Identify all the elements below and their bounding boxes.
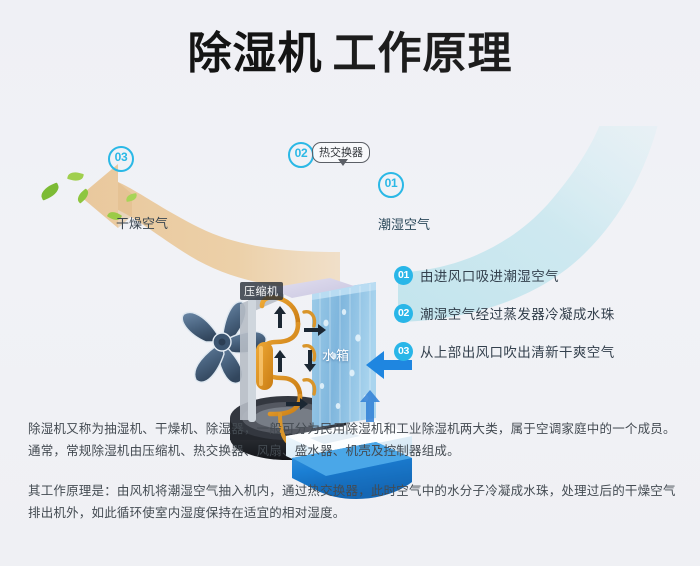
legend-text-03: 从上部出风口吹出清新干爽空气: [420, 341, 615, 361]
legend-text-02: 潮湿空气经过蒸发器冷凝成水珠: [420, 303, 615, 323]
description-paragraph-2: 其工作原理是：由风机将潮湿空气抽入机内，通过热交换器，此时空气中的水分子冷凝成水…: [28, 480, 676, 524]
list-item: 02 潮湿空气经过蒸发器冷凝成水珠: [394, 294, 684, 332]
list-item: 01 由进风口吸进潮湿空气: [394, 256, 684, 294]
heat-exchanger-badge: 02: [288, 142, 314, 168]
page-title: 除湿机工作原理: [0, 26, 700, 82]
dry-air-badge: 03: [108, 146, 134, 172]
legend-badge-02: 02: [394, 304, 413, 323]
callout-tail-icon: [338, 159, 348, 166]
page-root: 除湿机工作原理: [0, 0, 700, 566]
list-item: 03 从上部出风口吹出清新干爽空气: [394, 332, 684, 370]
description-paragraph-1: 除湿机又称为抽湿机、干燥机、除湿器，一般可分为民用除湿机和工业除湿机两大类，属于…: [28, 418, 676, 462]
compressor-label: 压缩机: [240, 282, 283, 300]
title-sub: 工作原理: [333, 29, 513, 78]
humid-air-label: 潮湿空气: [378, 214, 430, 233]
legend-list: 01 由进风口吸进潮湿空气 02 潮湿空气经过蒸发器冷凝成水珠 03 从上部出风…: [394, 256, 684, 370]
water-tank-label: 水箱: [318, 344, 354, 365]
description-block: 除湿机又称为抽湿机、干燥机、除湿器，一般可分为民用除湿机和工业除湿机两大类，属于…: [28, 418, 676, 524]
dry-air-label: 干燥空气: [116, 213, 168, 232]
humid-air-badge: 01: [378, 172, 404, 198]
legend-badge-03: 03: [394, 342, 413, 361]
title-main: 除湿机: [188, 29, 323, 78]
legend-badge-01: 01: [394, 266, 413, 285]
legend-text-01: 由进风口吸进潮湿空气: [420, 265, 559, 285]
